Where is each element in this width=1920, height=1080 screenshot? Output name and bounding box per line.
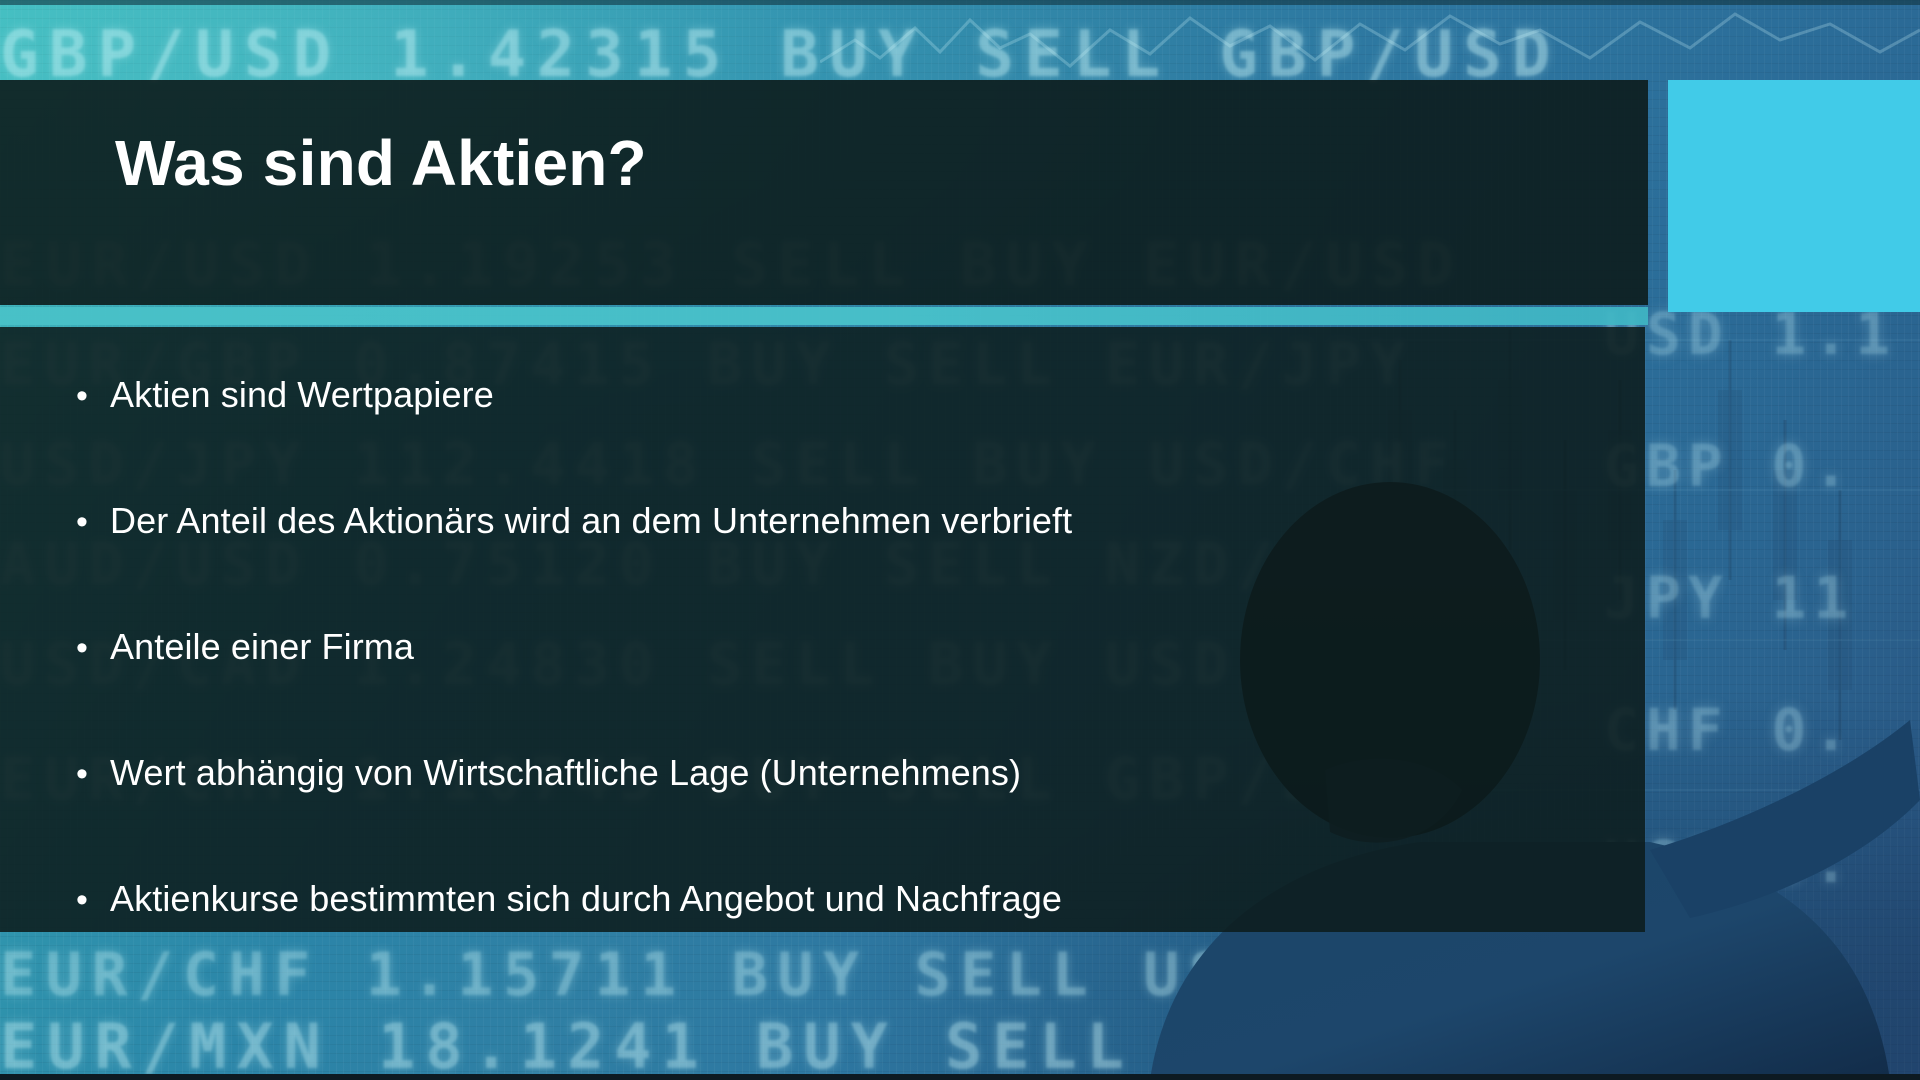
list-item-label: Aktienkurse bestimmten sich durch Angebo… <box>110 877 1062 920</box>
divider-band <box>0 307 1648 325</box>
list-item-label: Wert abhängig von Wirtschaftliche Lage (… <box>110 751 1021 794</box>
list-item-label: Aktien sind Wertpapiere <box>110 373 494 416</box>
bullet-marker-icon: • <box>76 631 110 665</box>
list-item: • Aktienkurse bestimmten sich durch Ange… <box>76 877 1062 920</box>
bullet-list: • Aktien sind Wertpapiere • Der Anteil d… <box>0 327 1645 932</box>
accent-block <box>1668 80 1920 312</box>
list-item: • Wert abhängig von Wirtschaftliche Lage… <box>76 751 1021 794</box>
top-edge-strip <box>0 0 1920 5</box>
list-item: • Aktien sind Wertpapiere <box>76 373 494 416</box>
page-title: Was sind Aktien? <box>115 128 647 198</box>
bullet-marker-icon: • <box>76 379 110 413</box>
bullet-marker-icon: • <box>76 505 110 539</box>
list-item: • Der Anteil des Aktionärs wird an dem U… <box>76 499 1072 542</box>
list-item-label: Anteile einer Firma <box>110 625 414 668</box>
bullet-marker-icon: • <box>76 883 110 917</box>
bottom-edge-strip <box>0 1074 1920 1080</box>
presentation-slide: GBP/USD 1.42315 BUY SELL GBP/USD EUR/USD… <box>0 0 1920 1080</box>
list-item-label: Der Anteil des Aktionärs wird an dem Unt… <box>110 499 1072 542</box>
bullet-marker-icon: • <box>76 757 110 791</box>
list-item: • Anteile einer Firma <box>76 625 414 668</box>
